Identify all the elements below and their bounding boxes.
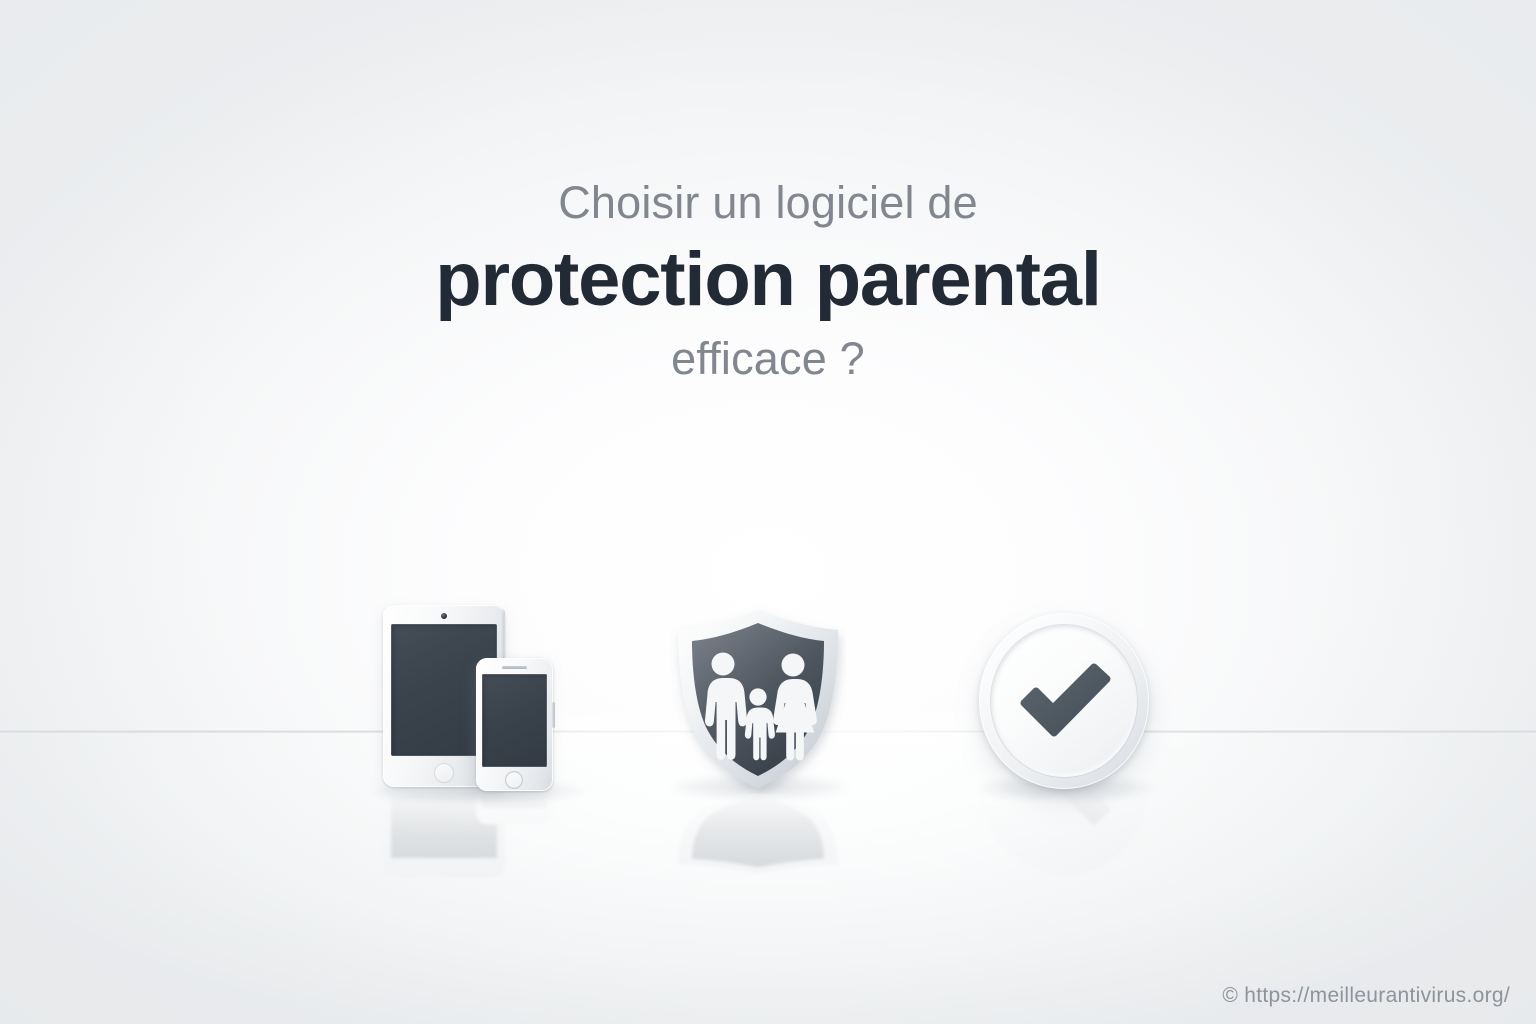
- smartphone-home-button: [505, 771, 523, 789]
- headline-line-main: protection parental: [0, 237, 1536, 322]
- tablet-and-smartphone-icon: [378, 600, 578, 800]
- check-circle-icon: [976, 610, 1154, 792]
- tablet-camera-icon: [441, 613, 447, 619]
- checkmark-svg: [976, 610, 1154, 792]
- hero-image-canvas: Choisir un logiciel de protection parent…: [0, 0, 1536, 1024]
- family-shield-icon: [670, 604, 846, 794]
- smartphone-icon: [476, 658, 553, 791]
- headline-line-bottom: efficace ?: [0, 332, 1536, 385]
- checkmark-glyph: [1024, 667, 1107, 733]
- tablet-home-button: [434, 763, 454, 783]
- headline-block: Choisir un logiciel de protection parent…: [0, 176, 1536, 385]
- smartphone-earpiece-speaker: [502, 666, 527, 669]
- family-shield-svg: [670, 604, 846, 794]
- smartphone-side-button: [552, 702, 555, 728]
- headline-line-top: Choisir un logiciel de: [0, 176, 1536, 229]
- footer-credit-text: © https://meilleurantivirus.org/: [1222, 984, 1510, 1008]
- smartphone-screen: [482, 674, 547, 767]
